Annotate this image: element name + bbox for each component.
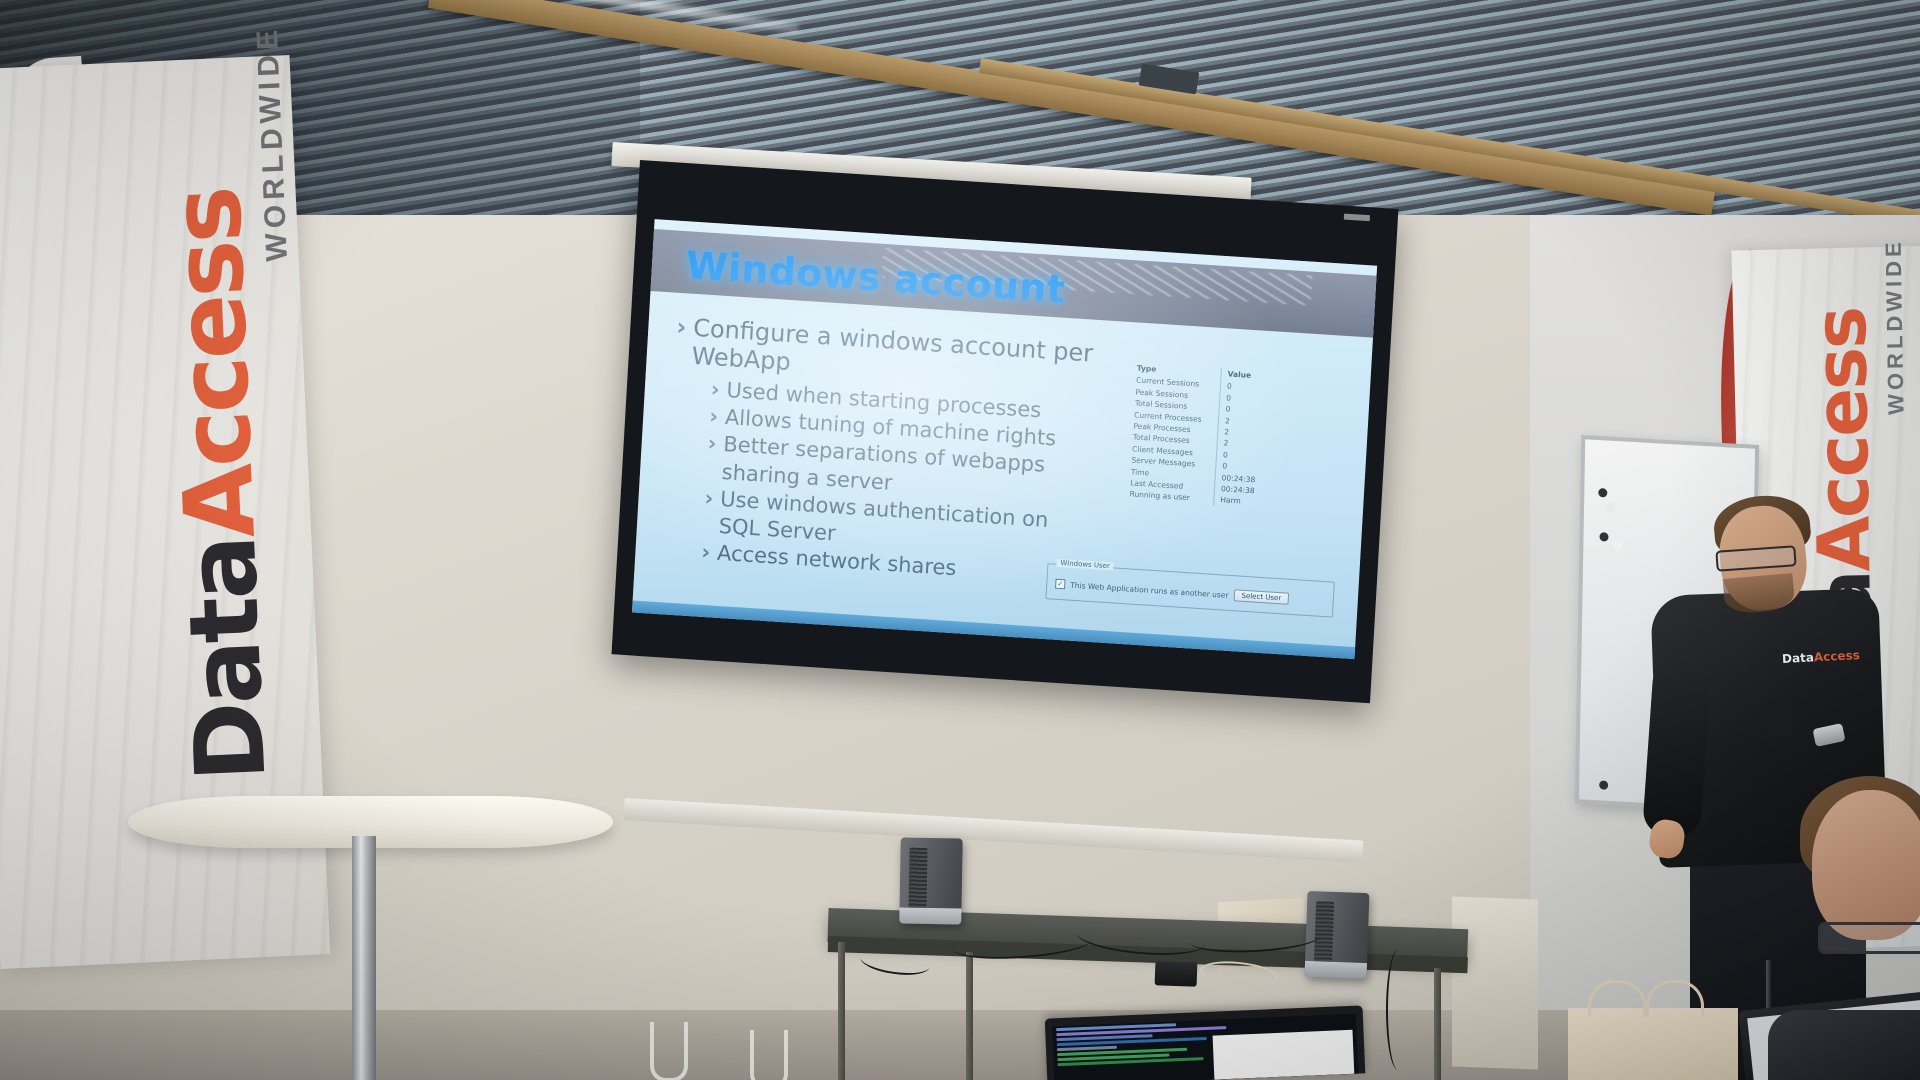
presenter-arm — [1642, 658, 1712, 838]
whiteboard-magnet — [1599, 780, 1608, 790]
presentation-slide: Windows account › Configure a windows ac… — [632, 219, 1377, 659]
bullet-chevron-icon: › — [710, 376, 720, 404]
av-table-leg — [838, 942, 845, 1080]
run-as-another-user-label: This Web Application runs as another use… — [1070, 580, 1229, 599]
run-as-another-user-checkbox[interactable]: ✓ — [1055, 579, 1066, 590]
presentation-photo-scene: DataAccess WORLDWIDE DataAccess WORLDWID… — [0, 0, 1920, 1080]
speaker-base — [899, 907, 961, 924]
whiteboard-magnet — [1598, 488, 1607, 498]
speaker-base — [1305, 961, 1368, 979]
slide-stats-table: Type Value Current Sessions 0 Peak Sessi… — [1129, 363, 1287, 510]
bullet-chevron-icon: › — [707, 430, 717, 458]
bullet-chevron-icon: › — [709, 403, 719, 431]
wireless-mic-transmitter — [1155, 961, 1198, 986]
chair-back — [650, 1022, 688, 1080]
projector-screen-surface: Windows account › Configure a windows ac… — [632, 219, 1377, 659]
bullet-chevron-icon: › — [704, 485, 714, 513]
bullet-chevron-icon: › — [701, 539, 711, 567]
windows-user-row: ✓ This Web Application runs as another u… — [1055, 578, 1290, 605]
laptop-document-window — [1213, 1030, 1355, 1080]
screen-brand-logo — [1344, 214, 1370, 222]
audience-glasses — [1818, 922, 1920, 954]
av-table-leg — [1434, 968, 1441, 1080]
audience-shoulder — [1768, 1010, 1920, 1080]
round-table-stem — [352, 836, 376, 1080]
paper-gift-bag — [1568, 1008, 1738, 1080]
select-user-button[interactable]: Select User — [1233, 589, 1289, 605]
av-table-leg — [966, 952, 973, 1080]
chair-back — [750, 1030, 788, 1080]
projector-screen-frame: Windows account › Configure a windows ac… — [612, 160, 1399, 703]
laptop-screen[interactable] — [1052, 1014, 1358, 1080]
shirt-logo-data: Data — [1782, 650, 1815, 666]
windows-user-legend: Windows User — [1056, 559, 1114, 571]
whiteboard-magnet — [1613, 541, 1622, 551]
power-cable — [1386, 950, 1410, 1070]
windows-user-groupbox: Windows User ✓ This Web Application runs… — [1045, 563, 1334, 618]
side-cabinet — [1452, 896, 1538, 1069]
audience-head — [1812, 790, 1920, 940]
whiteboard-magnet — [1606, 502, 1615, 512]
speaker-grille — [908, 848, 927, 910]
banner-left-word-data: Data — [165, 536, 287, 784]
presenter-laptop[interactable] — [1045, 1005, 1366, 1080]
banner-right-word-access: Access — [1798, 308, 1887, 573]
laptop-lid — [1045, 1005, 1366, 1080]
shirt-logo-access: Access — [1814, 648, 1861, 664]
bullet-chevron-icon: › — [676, 313, 688, 342]
banner-left-word-access: Access — [150, 187, 277, 541]
bose-speaker-left — [899, 837, 962, 924]
slide-bullet-list: › Configure a windows account per WebApp… — [663, 313, 1107, 592]
whiteboard-magnet — [1599, 532, 1608, 542]
